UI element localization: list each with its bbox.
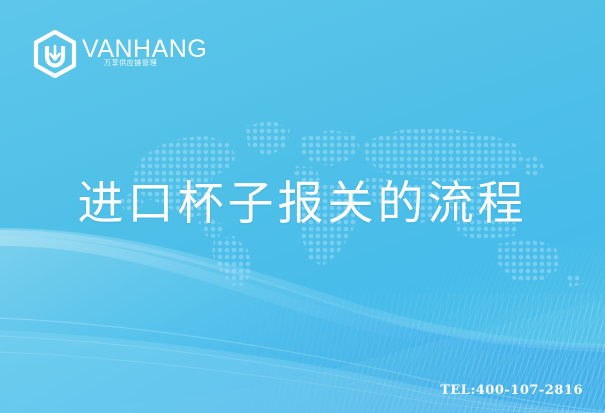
brand-logo: VANHANG 万享供应链管理 xyxy=(32,30,202,78)
promo-banner: VANHANG 万享供应链管理 进口杯子报关的流程 TEL:400-107-28… xyxy=(0,0,605,413)
page-title: 进口杯子报关的流程 xyxy=(0,175,605,233)
contact-phone: TEL:400-107-2816 xyxy=(440,383,583,398)
brand-subtitle: 万享供应链管理 xyxy=(104,60,157,67)
brand-wordmark-group: VANHANG 万享供应链管理 xyxy=(82,31,202,77)
vanhang-hexagon-logo-icon xyxy=(32,30,78,78)
